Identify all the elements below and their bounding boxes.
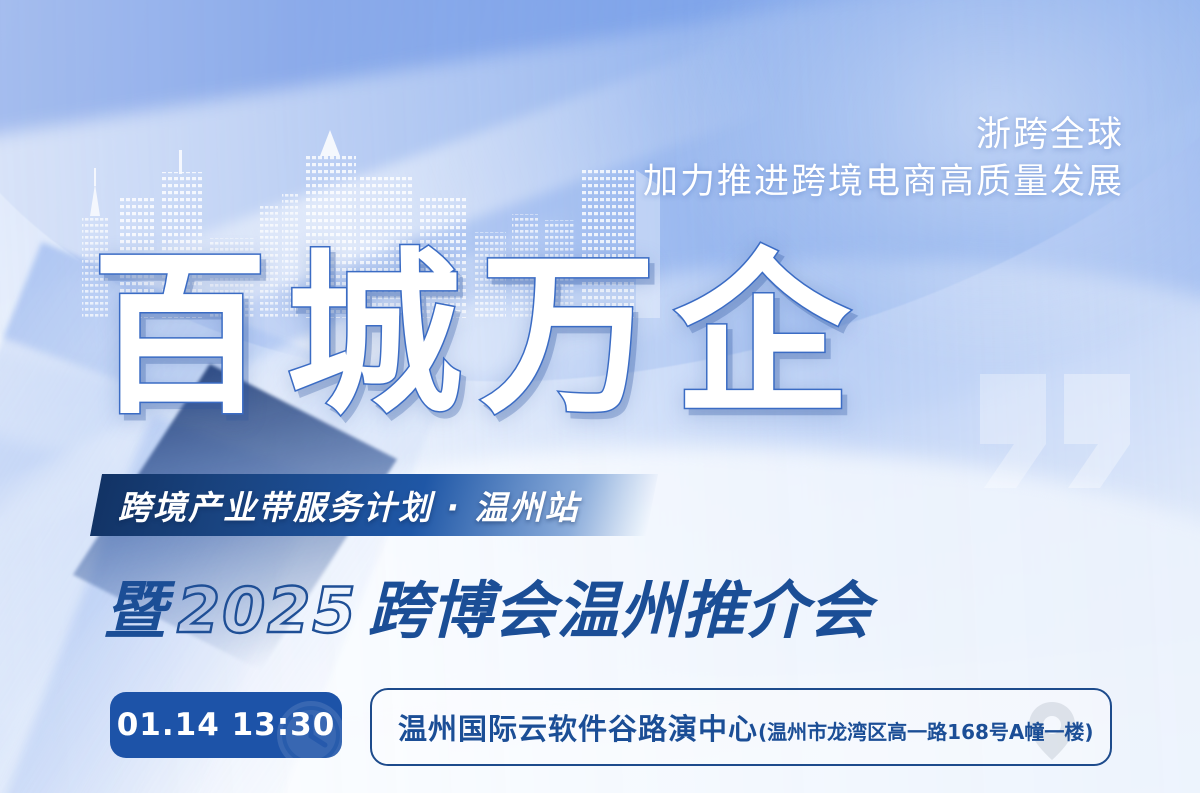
- quote-mark-icon: [976, 372, 1136, 490]
- venue-name: 温州国际云软件谷路演中心: [398, 712, 758, 746]
- slogan-line-1: 浙跨全球: [643, 112, 1124, 159]
- venue-pill: 温州国际云软件谷路演中心(温州市龙湾区高一路168号A幢一楼): [370, 688, 1112, 766]
- venue-address: (温州市龙湾区高一路168号A幢一楼): [758, 720, 1094, 744]
- date-time-text: 01.14 13:30: [117, 707, 336, 743]
- slogan-line-2: 加力推进跨境电商高质量发展: [643, 159, 1124, 206]
- slogan-block: 浙跨全球 加力推进跨境电商高质量发展: [643, 112, 1124, 206]
- secondary-headline-year: 2025: [167, 574, 368, 647]
- secondary-headline-prefix: 暨: [104, 560, 167, 650]
- secondary-headline-suffix: 跨博会温州推介会: [368, 560, 872, 650]
- date-time-pill: 01.14 13:30: [110, 692, 342, 758]
- secondary-headline: 暨 2025 跨博会温州推介会: [104, 560, 872, 650]
- venue-text-group: 温州国际云软件谷路演中心(温州市龙湾区高一路168号A幢一楼): [372, 706, 1094, 748]
- subtitle-banner-text: 跨境产业带服务计划 · 温州站: [118, 482, 580, 528]
- main-headline: 百城万企: [92, 248, 868, 424]
- promo-poster: 浙跨全球 加力推进跨境电商高质量发展 百城万企 跨境产业带服务计划 · 温州站 …: [0, 0, 1200, 793]
